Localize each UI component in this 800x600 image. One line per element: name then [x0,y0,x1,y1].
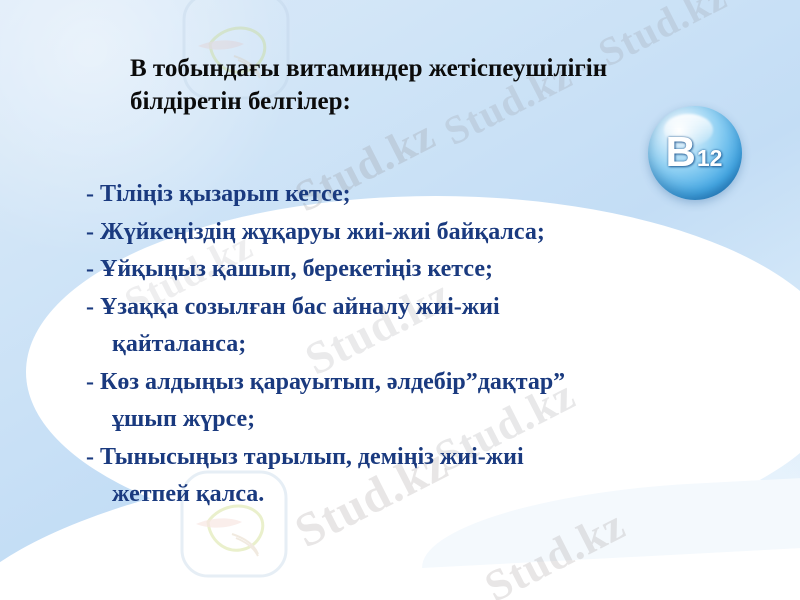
vitamin-b12-letter: B [666,131,696,173]
symptom-list-line: - Ұзаққа созылған бас айналу жиі-жиі [86,289,776,327]
vitamin-b12-badge-label: B 12 [666,131,723,173]
slide-title-line: В тобындағы витаминдер жетіспеушілігін [130,52,770,85]
symptom-list-line: - Көз алдыңыз қарауытып, әлдебір”дақтар” [86,364,776,402]
symptom-list-line: - Тіліңіз қызарып кетсе; [86,176,776,214]
symptom-list-line: - Жүйкеңіздің жұқаруы жиі-жиі байқалса; [86,214,776,252]
watermark-text: Stud.kz [477,499,634,600]
symptom-list-line: - Тынысыңыз тарылып, деміңіз жиі-жиі [86,439,776,477]
symptom-list: - Тіліңіз қызарып кетсе; - Жүйкеңіздің ж… [86,176,776,514]
bottom-blue-band-shape [0,501,800,600]
symptom-list-line: - Ұйқыңыз қашып, берекетіңіз кетсе; [86,251,776,289]
slide-title: В тобындағы витаминдер жетіспеушілігін б… [130,52,770,119]
symptom-list-line: жетпей қалса. [86,476,776,514]
vitamin-b12-subscript: 12 [697,147,723,170]
slide-canvas: Stud.kz - Stud.kz Stud.kz Stud.kz Stud.k… [0,0,800,600]
symptom-list-line: ұшып жүрсе; [86,401,776,439]
symptom-list-line: қайталанса; [86,326,776,364]
slide-title-line: білдіретін белгілер: [130,85,770,118]
